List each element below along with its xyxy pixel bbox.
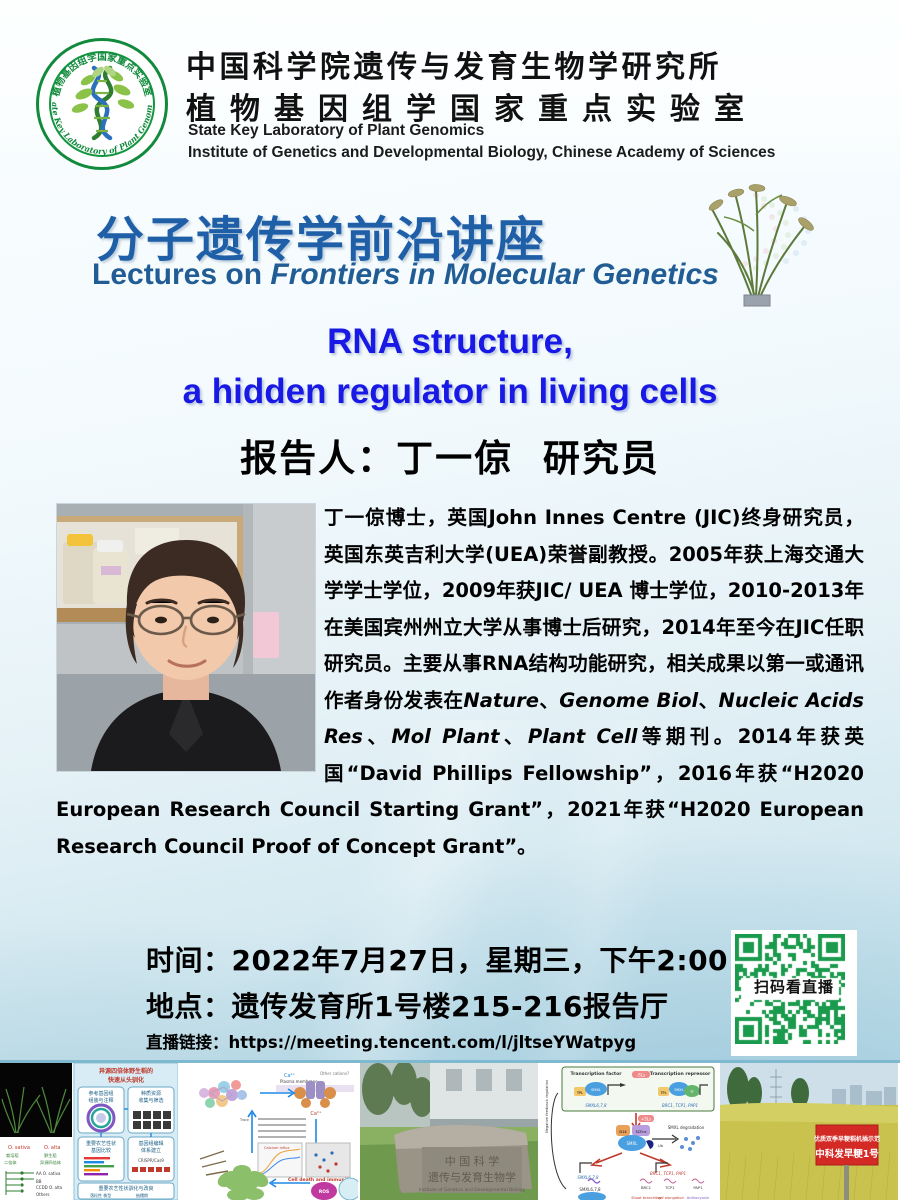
series-title-en: Lectures on Frontiers in Molecular Genet… [92,258,719,292]
svg-text:SCFD3: SCFD3 [635,1130,646,1134]
svg-text:TPL: TPL [659,1091,666,1095]
svg-text:Leaf elongation: Leaf elongation [656,1196,684,1200]
svg-text:D14: D14 [619,1130,627,1134]
svg-text:Transcription repressor: Transcription repressor [650,1071,711,1077]
live-stream-label: 直播链接： [146,1033,229,1052]
event-time: 时间：2022年7月27日，星期三，下午2:00 [146,939,728,979]
strip-image-2: Ca²⁺ Other cations? Plasma membrane Ca²⁺… [180,1063,358,1200]
bio-sep-3: 、 [363,725,391,748]
svg-text:BRC1, TCP1, PAP1: BRC1, TCP1, PAP1 [650,1171,686,1176]
svg-text:中科发早粳1号: 中科发早粳1号 [815,1148,879,1160]
svg-text:落粒性 株型: 落粒性 株型 [90,1192,111,1198]
svg-text:+SLs: +SLs [641,1117,651,1122]
svg-text:抽穗期: 抽穗期 [136,1192,148,1198]
strip-image-1: O. sativa O. alta 栽培稻 野生稻 二倍体 异源四倍体 AA O… [0,1063,178,1200]
series-title-en-italic: Frontiers in Molecular Genetics [270,258,718,291]
svg-text:Trace: Trace [239,1118,249,1122]
svg-text:CCDD O. alta: CCDD O. alta [36,1185,63,1190]
bio-paragraph: 丁一倞博士，英国John Innes Centre (JIC)终身研究员，英国东… [324,506,864,712]
event-time-label: 时间： [146,944,232,977]
svg-text:野生稻: 野生稻 [44,1152,57,1159]
bio-sep-1: 、 [539,689,559,712]
svg-text:SMXL6,7,8: SMXL6,7,8 [577,1175,599,1180]
svg-text:Negative feedback regulation: Negative feedback regulation [545,1080,549,1133]
svg-text:Institute of Genetics and Deve: Institute of Genetics and Developmental … [419,1187,526,1193]
journal-genome-biol: Genome Biol [559,689,698,712]
rice-plant-dna-icon [700,175,840,310]
event-time-value: 2022年7月27日，星期三，下午2:00 [232,944,729,977]
svg-text:ROS: ROS [319,1189,329,1195]
strip-image-5: 优质双季早粳稻机插示范 中科发早粳1号 [720,1063,898,1200]
svg-text:植物基因组学国家重点实验室: 植物基因组学国家重点实验室 [49,51,154,99]
svg-text:异源四倍体野生稻的: 异源四倍体野生稻的 [99,1067,153,1075]
svg-text:收集与筛选: 收集与筛选 [138,1097,163,1104]
svg-text:AA O. sativa: AA O. sativa [36,1171,61,1176]
series-title-en-prefix: Lectures on [92,258,270,291]
svg-text:Ca²⁺: Ca²⁺ [310,1111,322,1117]
svg-text:Ub: Ub [658,1144,664,1148]
svg-text:CRISPR/Cas9: CRISPR/Cas9 [138,1158,164,1163]
org-name-cn-line1: 中国科学院遗传与发育生物学研究所 [186,42,722,86]
event-place-label: 地点： [146,990,232,1023]
org-name-en-line1: State Key Laboratory of Plant Genomics [188,122,484,140]
dna-leaf-emblem-icon: 植物基因组学国家重点实验室 State Key Laboratory of Pl… [36,38,168,170]
svg-text:二倍体: 二倍体 [4,1159,17,1166]
svg-text:重要农艺性状驯化与改良: 重要农艺性状驯化与改良 [98,1185,153,1192]
svg-text:TPL: TPL [576,1091,583,1095]
bio-sep-2: 、 [698,689,718,712]
svg-text:BRC1, TCP1, PAP1: BRC1, TCP1, PAP1 [662,1103,698,1108]
svg-text:SMXL6,7,8: SMXL6,7,8 [579,1187,601,1192]
svg-text:基因比较: 基因比较 [91,1147,111,1154]
svg-text:Other cations?: Other cations? [320,1071,349,1076]
svg-text:Calcium influx: Calcium influx [264,1146,290,1150]
bio-sep-4: 、 [499,725,527,748]
talk-title-line2: a hidden regulator in living cells [0,372,900,412]
journal-plant-cell: Plant Cell [528,725,638,748]
lab-logo: 植物基因组学国家重点实验室 State Key Laboratory of Pl… [36,38,168,170]
svg-text:种质资源: 种质资源 [141,1090,161,1097]
svg-text:体系建立: 体系建立 [141,1147,161,1154]
svg-text:SMXL: SMXL [627,1141,639,1146]
svg-text:重要农艺性状: 重要农艺性状 [86,1140,116,1147]
journal-nature: Nature [463,689,539,712]
svg-text:TF: TF [689,1090,694,1094]
research-image-strip: O. sativa O. alta 栽培稻 野生稻 二倍体 异源四倍体 AA O… [0,1063,900,1200]
svg-text:Transcription factor: Transcription factor [570,1071,622,1077]
svg-text:PAP1: PAP1 [693,1185,703,1190]
svg-text:快速从头驯化: 快速从头驯化 [107,1076,144,1084]
speaker-name: 丁一倞 [396,436,513,480]
svg-text:O. sativa: O. sativa [8,1145,30,1151]
svg-text:BRC1: BRC1 [641,1185,652,1190]
poster-header: 植物基因组学国家重点实验室 State Key Laboratory of Pl… [0,0,900,170]
svg-text:中 国 科 学: 中 国 科 学 [445,1154,500,1168]
svg-text:参考基因组: 参考基因组 [88,1090,113,1097]
event-place-value: 遗传发育所1号楼215-216报告厅 [232,990,669,1023]
speaker-rank: 研究员 [543,436,660,480]
svg-text:BB: BB [36,1179,42,1184]
talk-title-line1: RNA structure, [0,322,900,362]
strip-image-3: 中 国 科 学 遗传与发育生物学 Institute of Genetics a… [360,1063,538,1200]
svg-text:SMXL: SMXL [674,1088,683,1092]
svg-text:Anthocyanin: Anthocyanin [687,1196,709,1200]
bio-photo-spacer [56,500,324,772]
live-stream-url[interactable]: https://meeting.tencent.com/l/jltseYWatp… [229,1033,637,1052]
svg-text:异源四倍体: 异源四倍体 [40,1159,62,1166]
svg-text:SMXL degradation: SMXL degradation [668,1125,705,1130]
svg-text:Others: Others [36,1192,49,1197]
seminar-poster: 植物基因组学国家重点实验室 State Key Laboratory of Pl… [0,0,900,1200]
org-name-en-line2: Institute of Genetics and Developmental … [188,144,775,162]
svg-text:组装与注释: 组装与注释 [88,1097,113,1104]
event-place: 地点：遗传发育所1号楼215-216报告厅 [146,985,669,1025]
speaker-bio: 丁一倞博士，英国John Innes Centre (JIC)终身研究员，英国东… [56,500,864,865]
journal-mol-plant: Mol Plant [391,725,499,748]
qr-caption: 扫码看直播 [731,976,857,997]
svg-text:SMXL6,7,8: SMXL6,7,8 [585,1103,607,1108]
svg-text:SMXL: SMXL [591,1088,601,1092]
svg-text:O. alta: O. alta [44,1145,60,1151]
live-stream-link[interactable]: 直播链接：https://meeting.tencent.com/l/jltse… [146,1029,636,1053]
speaker-label: 报告人： [240,436,396,480]
svg-text:遗传与发育生物学: 遗传与发育生物学 [428,1170,516,1184]
speaker-line: 报告人：丁一倞 研究员 [0,428,900,482]
svg-text:-SLs: -SLs [637,1073,646,1078]
svg-text:栽培稻: 栽培稻 [6,1152,19,1159]
svg-text:基因组编辑: 基因组编辑 [138,1140,163,1147]
svg-text:TCP1: TCP1 [664,1185,675,1190]
strip-image-4: Transcription factor Transcription repre… [540,1063,718,1200]
svg-text:优质双季早粳稻机插示范: 优质双季早粳稻机插示范 [814,1135,880,1143]
